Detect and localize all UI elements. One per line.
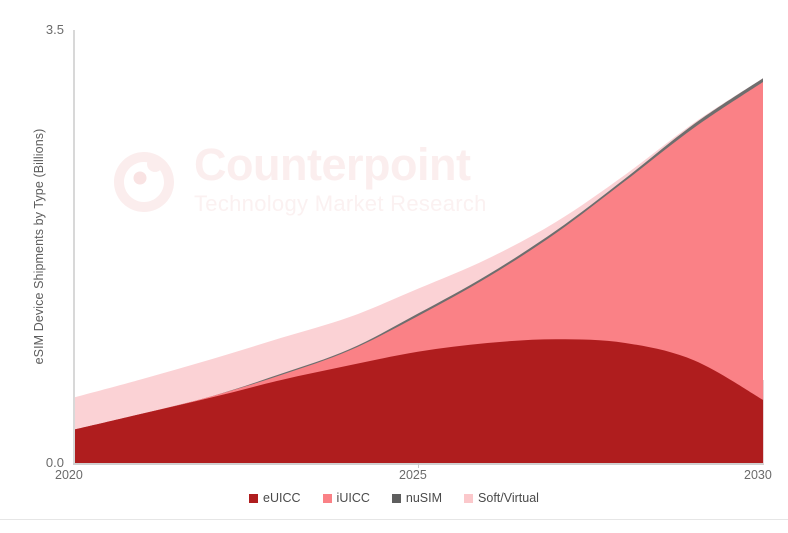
- x-tick-label-2025: 2025: [399, 468, 427, 482]
- legend-label: nuSIM: [406, 491, 442, 505]
- chart-container: Counterpoint Technology Market Research …: [0, 0, 788, 533]
- stacked-area-plot: [74, 30, 763, 463]
- bottom-divider: [0, 519, 788, 520]
- legend-label: iUICC: [337, 491, 370, 505]
- legend-swatch-icon: [249, 494, 258, 503]
- legend-label: eUICC: [263, 491, 301, 505]
- right-edge-line: [763, 380, 764, 464]
- y-axis-line: [73, 30, 75, 464]
- y-tick-label-3-5: 3.5: [22, 22, 64, 37]
- chart-legend: eUICC iUICC nuSIM Soft/Virtual: [0, 491, 788, 505]
- x-tick-label-2020: 2020: [55, 468, 83, 482]
- legend-swatch-icon: [464, 494, 473, 503]
- y-axis-title: eSIM Device Shipments by Type (Billions): [26, 30, 52, 463]
- legend-swatch-icon: [392, 494, 401, 503]
- legend-label: Soft/Virtual: [478, 491, 539, 505]
- legend-item-eUICC[interactable]: eUICC: [249, 491, 301, 505]
- x-tick-label-2030: 2030: [744, 468, 772, 482]
- legend-item-nuSIM[interactable]: nuSIM: [392, 491, 442, 505]
- legend-swatch-icon: [323, 494, 332, 503]
- plot-area: [74, 30, 763, 463]
- legend-item-soft-virtual[interactable]: Soft/Virtual: [464, 491, 539, 505]
- legend-item-iUICC[interactable]: iUICC: [323, 491, 370, 505]
